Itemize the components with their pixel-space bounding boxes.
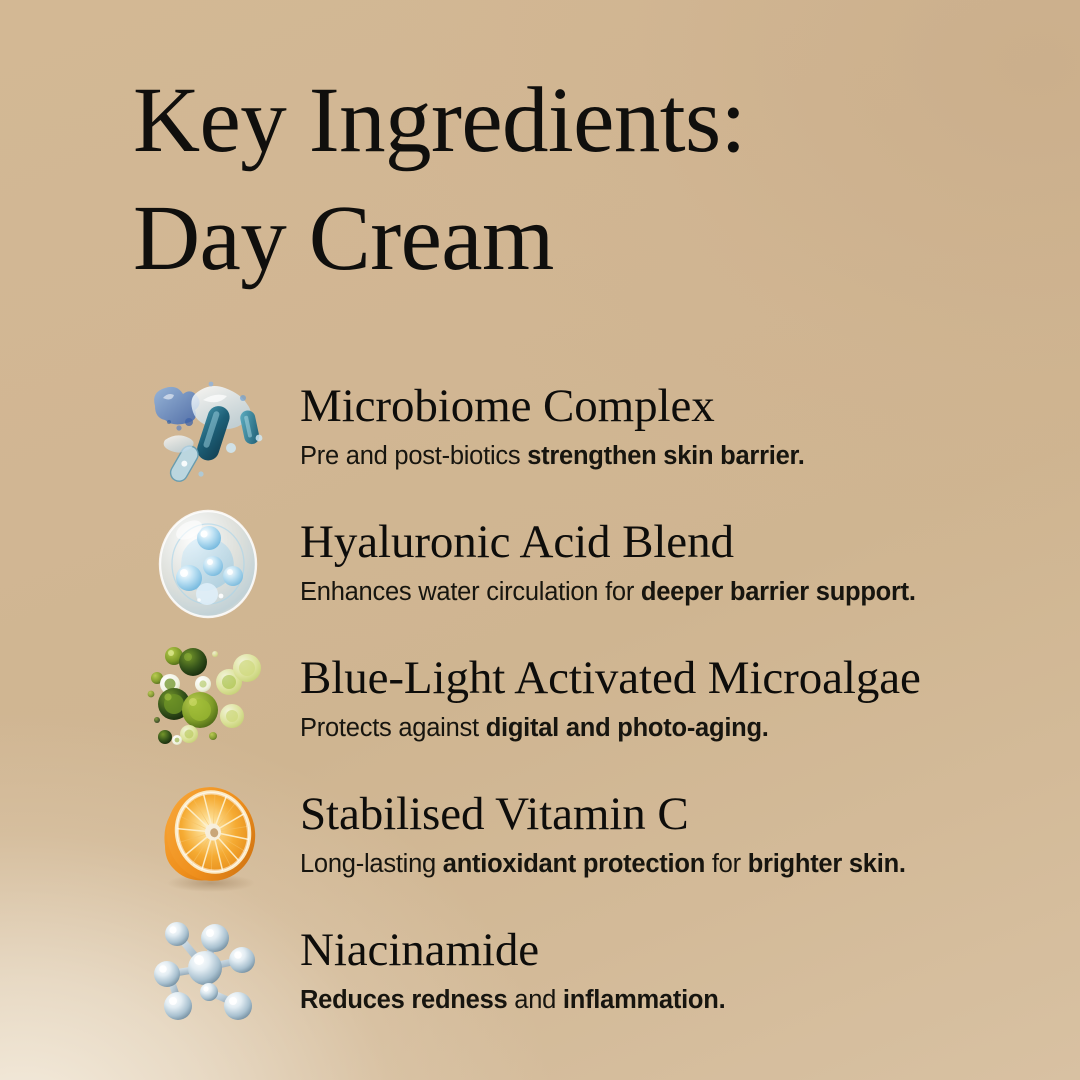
ingredient-row: Hyaluronic Acid BlendEnhances water circ… <box>0 496 1080 632</box>
ingredient-row: Stabilised Vitamin CLong-lasting antioxi… <box>0 768 1080 904</box>
ingredient-row: NiacinamideReduces redness and inflammat… <box>0 904 1080 1040</box>
ingredient-description: Reduces redness and inflammation. <box>300 983 725 1017</box>
description-emphasis: antioxidant protection <box>443 850 705 878</box>
description-text: for <box>705 850 748 878</box>
ingredient-description: Protects against digital and photo-aging… <box>300 711 921 745</box>
description-text: Protects against <box>300 714 486 742</box>
ingredient-description: Pre and post-biotics strengthen skin bar… <box>300 439 805 473</box>
ingredient-name: Blue-Light Activated Microalgae <box>300 652 921 704</box>
description-emphasis: digital and photo-aging. <box>486 714 769 742</box>
ingredient-text: NiacinamideReduces redness and inflammat… <box>288 924 725 1017</box>
description-emphasis: inflammation. <box>563 986 726 1014</box>
ingredient-name: Stabilised Vitamin C <box>300 788 906 840</box>
ingredient-name: Niacinamide <box>300 924 725 976</box>
description-emphasis: Reduces redness <box>300 986 507 1014</box>
microbiome-bacteria-icon <box>128 360 288 496</box>
ingredient-name: Hyaluronic Acid Blend <box>300 516 916 568</box>
ingredient-row: Blue-Light Activated MicroalgaeProtects … <box>0 632 1080 768</box>
ingredient-text: Hyaluronic Acid BlendEnhances water circ… <box>288 516 916 609</box>
orange-half-icon <box>128 768 288 904</box>
ingredient-description: Enhances water circulation for deeper ba… <box>300 575 916 609</box>
ingredient-name: Microbiome Complex <box>300 380 805 432</box>
title-line-2: Day Cream <box>133 180 953 298</box>
ingredient-text: Microbiome ComplexPre and post-biotics s… <box>288 380 805 473</box>
ingredients-poster: Key Ingredients: Day Cream <box>0 0 1080 1080</box>
description-emphasis: deeper barrier support. <box>641 578 916 606</box>
hyaluronic-water-sphere-icon <box>128 496 288 632</box>
ingredient-row: Microbiome ComplexPre and post-biotics s… <box>0 360 1080 496</box>
description-text: Enhances water circulation for <box>300 578 641 606</box>
description-text: Pre and post-biotics <box>300 442 527 470</box>
description-text: Long-lasting <box>300 850 443 878</box>
niacinamide-molecule-icon <box>128 904 288 1040</box>
microalgae-cells-icon <box>128 632 288 768</box>
description-text: and <box>507 986 562 1014</box>
ingredient-text: Stabilised Vitamin CLong-lasting antioxi… <box>288 788 906 881</box>
description-emphasis: strengthen skin barrier. <box>527 442 804 470</box>
ingredient-text: Blue-Light Activated MicroalgaeProtects … <box>288 652 921 745</box>
title-line-1: Key Ingredients: <box>133 62 953 180</box>
page-title: Key Ingredients: Day Cream <box>133 62 953 298</box>
description-emphasis: brighter skin. <box>748 850 906 878</box>
ingredient-description: Long-lasting antioxidant protection for … <box>300 847 906 881</box>
ingredient-list: Microbiome ComplexPre and post-biotics s… <box>0 360 1080 1040</box>
